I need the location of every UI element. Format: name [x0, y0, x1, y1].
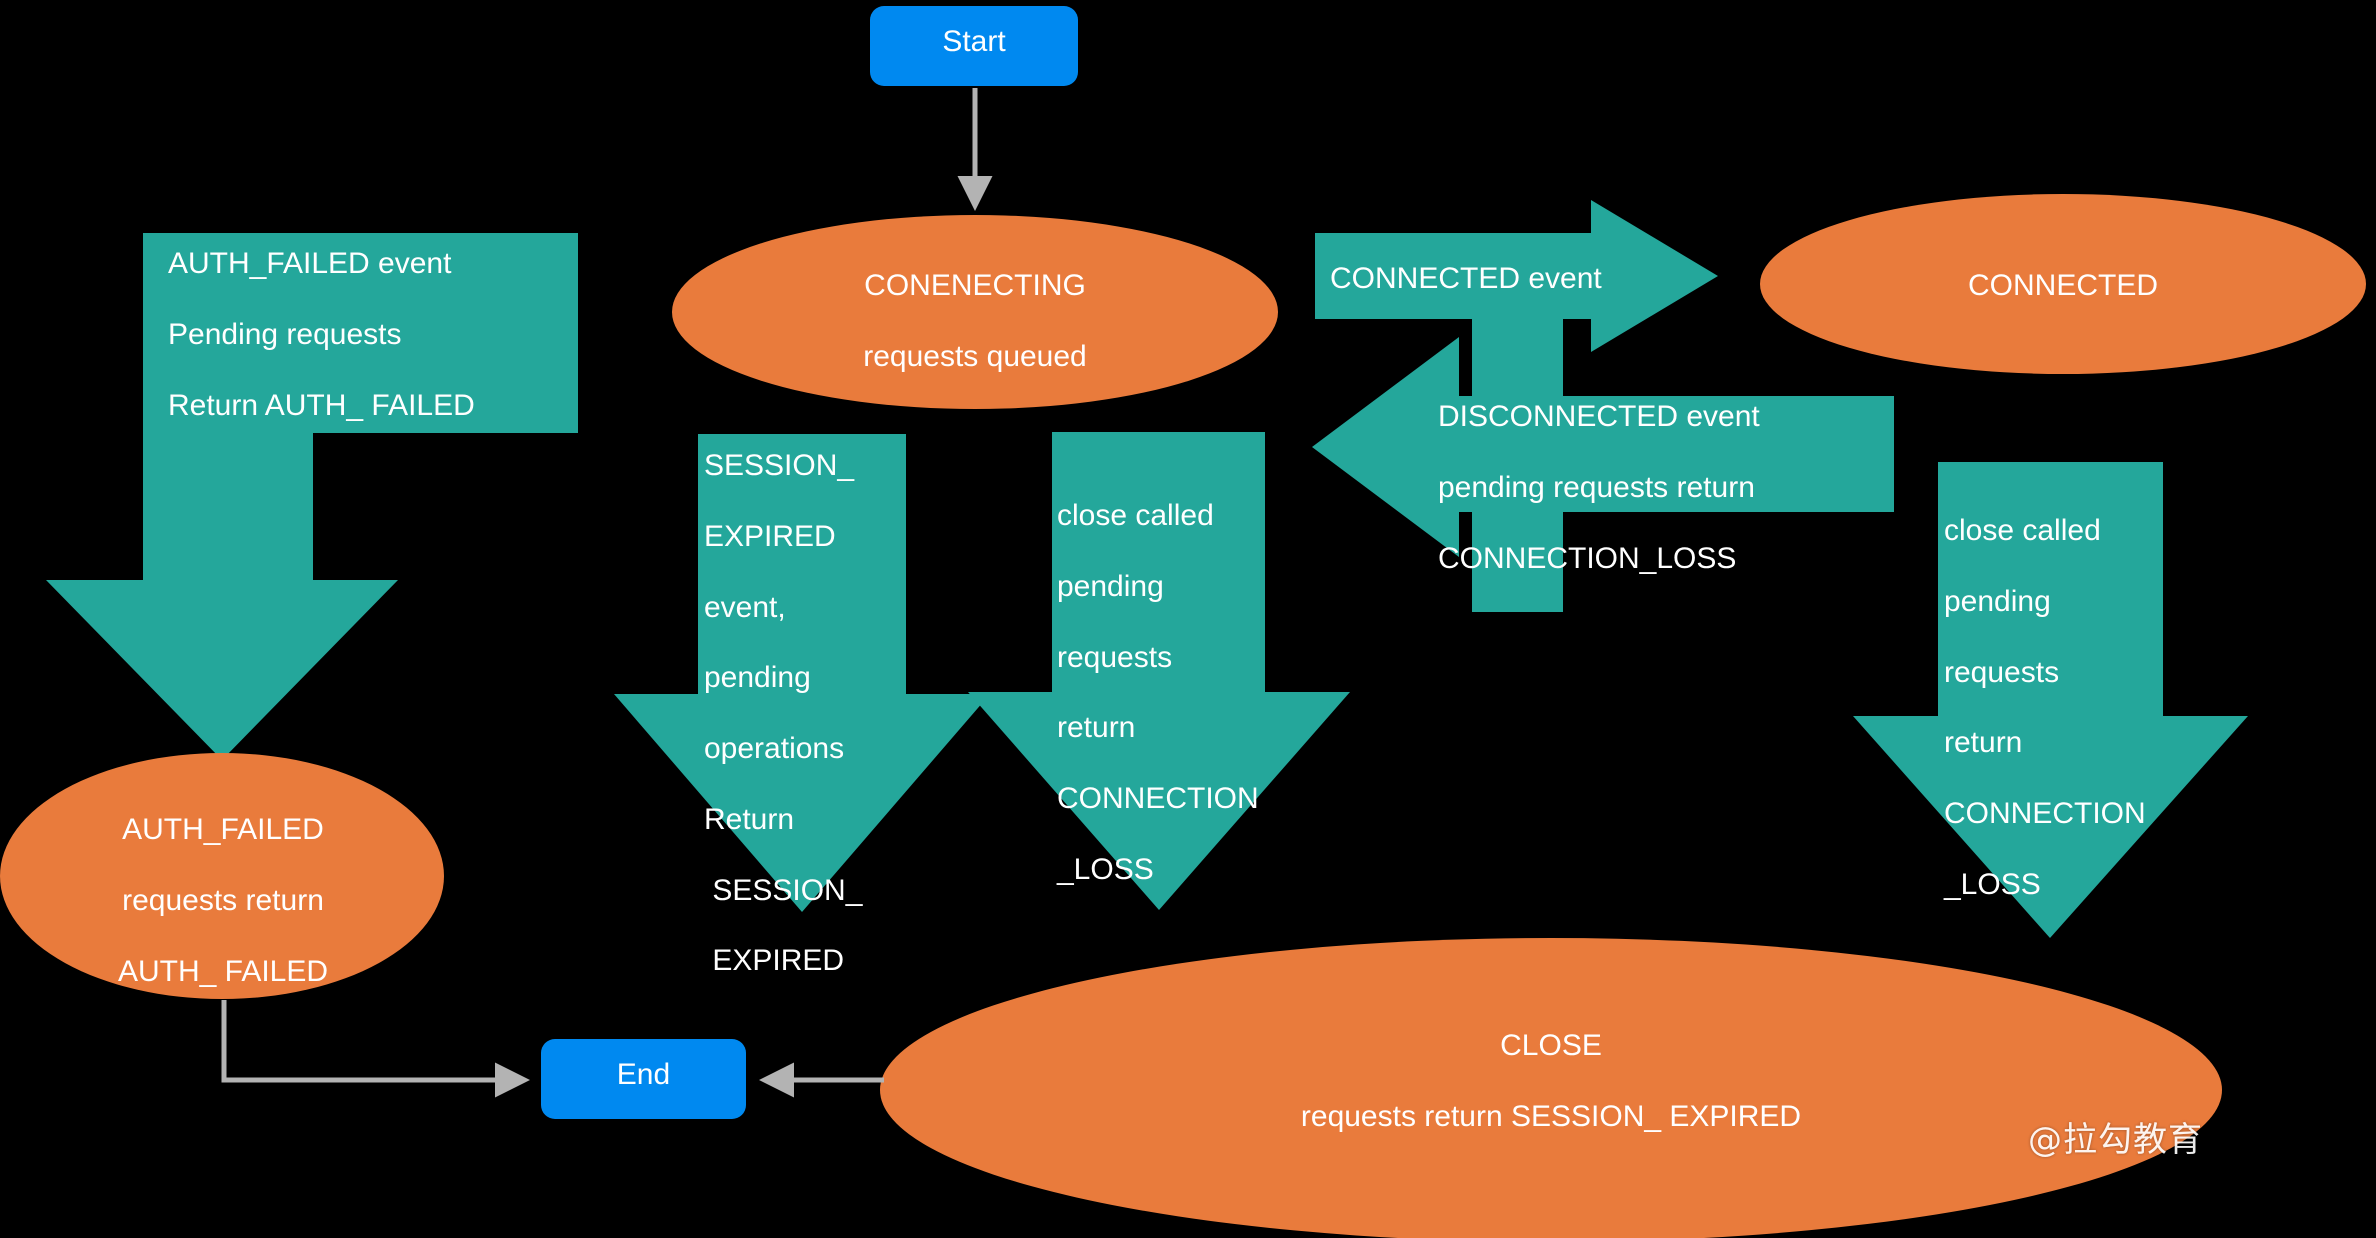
session-expired-transition-shape: [614, 434, 990, 912]
auth-failed-transition-shape: [46, 233, 578, 760]
node-start-shape: [870, 6, 1078, 86]
state-connecting-shape: [672, 215, 1278, 409]
node-end-shape: [541, 1039, 746, 1119]
close-called-connected-transition-shape: [1853, 462, 2248, 938]
connector-auth-failed-to-end: [224, 1000, 525, 1080]
diagram-canvas: Start End CONENECTING requests queued CO…: [0, 0, 2376, 1238]
state-close-shape: [880, 938, 2222, 1238]
diagram-shape-layer: [0, 0, 2376, 1238]
disconnected-transition-shape: [1312, 337, 1894, 557]
close-called-connecting-transition-shape: [968, 432, 1350, 910]
state-connected-shape: [1760, 194, 2366, 374]
state-auth-failed-shape: [0, 753, 444, 999]
